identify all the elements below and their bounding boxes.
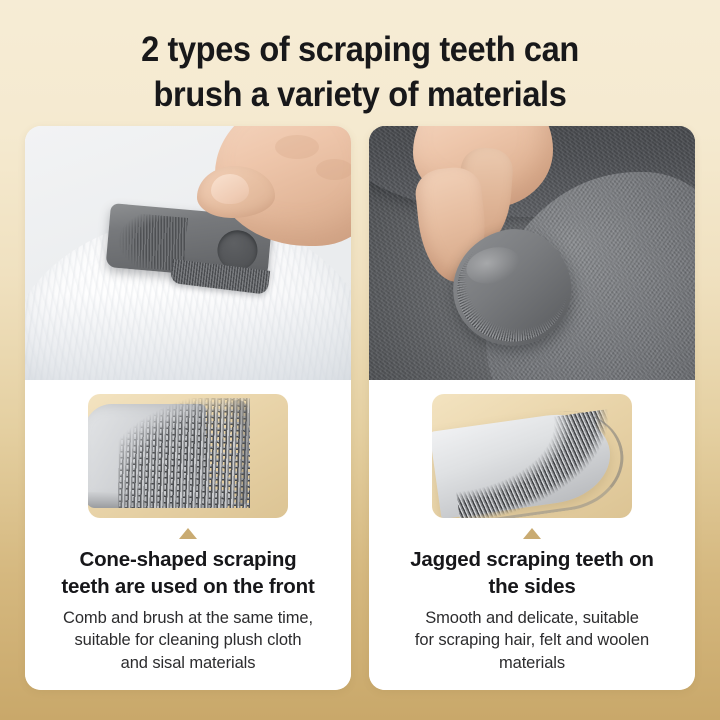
caption-title-line-2: teeth are used on the front [61,575,314,598]
caption-body-line-3: materials [499,654,565,672]
caption-body: Comb and brush at the same time, suitabl… [45,607,331,673]
thumbnail [211,174,249,204]
triangle-up-icon [179,528,197,539]
inset-jagged-teeth-closeup [432,394,632,518]
caption-body-line-1: Smooth and delicate, suitable [425,609,639,627]
plush-shadow-overlay [25,294,351,380]
feature-card-jagged-teeth[interactable]: Jagged scraping teeth on the sides Smoot… [369,126,695,690]
heading-line-2: brush a variety of materials [25,73,695,118]
card-lower-section: Cone-shaped scraping teeth are used on t… [25,380,351,690]
caption-block: Jagged scraping teeth on the sides Smoot… [389,547,675,674]
hand-left [193,126,351,272]
inset-cone-teeth-closeup [88,394,288,518]
caption-title: Jagged scraping teeth on the sides [389,547,675,600]
photo-hand-brushing-white-plush [25,126,351,380]
jagged-edge-block [432,394,632,518]
caption-body-line-2: for scraping hair, felt and woolen [415,631,649,649]
caption-title-line-2: the sides [488,575,575,598]
photo-hand-brushing-gray-felt [369,126,695,380]
caption-body-line-2: suitable for cleaning plush cloth [75,631,302,649]
feature-card-cone-teeth[interactable]: Cone-shaped scraping teeth are used on t… [25,126,351,690]
caption-body-line-1: Comb and brush at the same time, [63,609,313,627]
cone-edge-shade [226,400,248,506]
page-title: 2 types of scraping teeth can brush a va… [25,28,695,118]
feature-card-list: Cone-shaped scraping teeth are used on t… [25,126,695,690]
caption-body-line-3: and sisal materials [121,654,256,672]
brush-serrated-teeth [446,222,579,353]
caption-block: Cone-shaped scraping teeth are used on t… [45,547,331,674]
caption-body: Smooth and delicate, suitable for scrapi… [389,607,675,673]
heading-line-1: 2 types of scraping teeth can [25,28,695,73]
knuckle-shade [316,159,351,180]
product-feature-poster: 2 types of scraping teeth can brush a va… [0,0,720,720]
triangle-up-icon [523,528,541,539]
caption-title-line-1: Cone-shaped scraping [80,548,297,571]
caption-title: Cone-shaped scraping teeth are used on t… [45,547,331,600]
knuckle-shade [275,135,319,159]
cone-teeth-block [88,398,256,510]
caption-title-line-1: Jagged scraping teeth on [410,548,654,571]
card-lower-section: Jagged scraping teeth on the sides Smoot… [369,380,695,690]
